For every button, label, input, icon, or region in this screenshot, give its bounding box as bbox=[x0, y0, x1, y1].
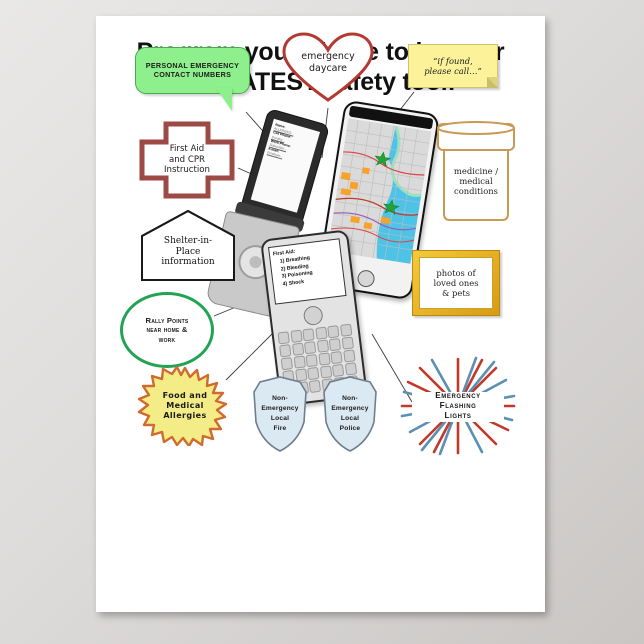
callout-emergency-daycare[interactable]: emergency daycare bbox=[278, 28, 378, 106]
callout-fire-line3: Local bbox=[261, 414, 298, 424]
callout-allergies-line1: Food and bbox=[163, 391, 208, 401]
callout-allergies-line3: Allergies bbox=[163, 411, 208, 421]
callout-lights-line1: Emergency bbox=[435, 391, 481, 401]
callout-police-line2: Emergency bbox=[331, 404, 368, 414]
callout-rally-points[interactable]: Rally Points near home & work bbox=[120, 292, 214, 368]
callout-daycare-line1: emergency bbox=[301, 51, 354, 63]
callout-shelter-in-place[interactable]: Shelter-in- Place information bbox=[138, 208, 238, 282]
callout-if-found-please-call[interactable]: “if found, please call…” bbox=[408, 44, 498, 88]
blackberry-screen: First Aid: 1) Breathing 2) Bleeding 3) P… bbox=[268, 238, 347, 304]
poster: Program your phone to be your GREATEST s… bbox=[96, 16, 545, 612]
callout-allergies-line2: Medical bbox=[163, 401, 208, 411]
callout-medicine-line3: conditions bbox=[454, 186, 498, 196]
callout-rally-line3: work bbox=[146, 335, 189, 344]
callout-fire-line2: Emergency bbox=[261, 404, 298, 414]
callout-police-line1: Non- bbox=[331, 394, 368, 404]
callout-first-aid-cpr[interactable]: First Aid and CPR Instruction bbox=[136, 118, 238, 202]
sticky-note-fold-icon bbox=[487, 77, 498, 88]
callout-police-line4: Police bbox=[331, 424, 368, 434]
callout-lights-line2: Flashing bbox=[435, 401, 481, 411]
callout-non-emergency-local-police[interactable]: Non- Emergency Local Police bbox=[318, 374, 382, 454]
callout-shelter-line1: Shelter-in- bbox=[161, 236, 214, 247]
callout-emergency-flashing-lights[interactable]: Emergency Flashing Lights bbox=[398, 356, 518, 456]
callout-medicine-line1: medicine / bbox=[454, 166, 498, 176]
callout-firstaid-line3: Instruction bbox=[164, 165, 210, 175]
callout-fire-line1: Non- bbox=[261, 394, 298, 404]
callout-medicine-medical-conditions[interactable]: medicine / medical conditions bbox=[430, 120, 522, 224]
callout-food-medical-allergies[interactable]: Food and Medical Allergies bbox=[133, 366, 237, 446]
callout-shelter-line3: information bbox=[161, 257, 214, 268]
diagram-stage: Name: ALLERGIES... Cell Phone: Dorothy..… bbox=[96, 16, 545, 612]
callout-daycare-line2: daycare bbox=[301, 63, 354, 75]
speech-bubble-tail-icon bbox=[207, 88, 232, 111]
callout-ifound-line1: “if found, bbox=[424, 56, 482, 66]
callout-shelter-line2: Place bbox=[161, 247, 214, 258]
flip-phone-screen: Name: ALLERGIES... Cell Phone: Dorothy..… bbox=[251, 119, 320, 213]
callout-rally-line1: Rally Points bbox=[146, 316, 189, 325]
callout-medicine-line2: medical bbox=[454, 176, 498, 186]
callout-police-line3: Local bbox=[331, 414, 368, 424]
callout-fire-line4: Fire bbox=[261, 424, 298, 434]
callout-photos-line2: loved ones bbox=[433, 278, 478, 288]
callout-photos-line1: photos of bbox=[433, 268, 478, 278]
callout-non-emergency-local-fire[interactable]: Non- Emergency Local Fire bbox=[248, 374, 312, 454]
callout-photos-loved-ones[interactable]: photos of loved ones & pets bbox=[412, 250, 500, 316]
callout-lights-line3: Lights bbox=[435, 411, 481, 421]
callout-rally-line2: near home & bbox=[146, 325, 189, 334]
callout-firstaid-line2: and CPR bbox=[164, 155, 210, 165]
callout-personal-emergency-contacts[interactable]: Personal emergency contact numbers bbox=[135, 47, 250, 94]
callout-photos-line3: & pets bbox=[433, 288, 478, 298]
callout-contacts-label: Personal emergency contact numbers bbox=[135, 62, 250, 80]
callout-firstaid-line1: First Aid bbox=[164, 144, 210, 154]
callout-ifound-line2: please call…” bbox=[424, 66, 482, 76]
